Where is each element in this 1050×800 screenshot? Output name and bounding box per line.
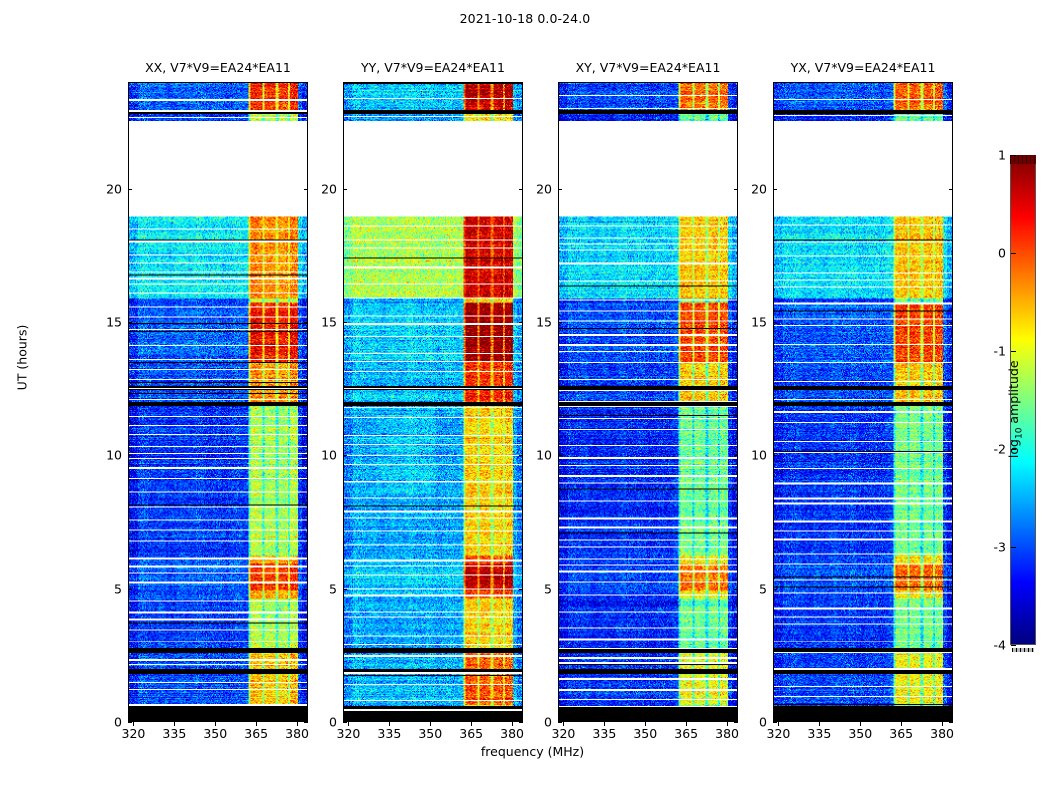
x-tick-label: 335 bbox=[807, 726, 831, 741]
y-tick-mark bbox=[304, 722, 308, 723]
colorbar-tick-label: 0 bbox=[966, 246, 1006, 261]
figure-suptitle: 2021-10-18 0.0-24.0 bbox=[0, 11, 1050, 26]
x-tick-mark bbox=[819, 722, 820, 726]
y-tick-mark bbox=[558, 722, 562, 723]
y-tick-mark bbox=[343, 189, 347, 190]
figure-canvas: 2021-10-18 0.0-24.0 XX, V7*V9=EA24*EA11 … bbox=[0, 0, 1050, 800]
x-tick-mark bbox=[512, 722, 513, 726]
x-tick-label: 380 bbox=[930, 726, 954, 741]
panel-title-yy: YY, V7*V9=EA24*EA11 bbox=[343, 60, 523, 76]
panel-title-xx: XX, V7*V9=EA24*EA11 bbox=[128, 60, 308, 76]
y-tick-mark bbox=[304, 322, 308, 323]
x-axis-label: frequency (MHz) bbox=[115, 744, 950, 759]
y-tick-mark bbox=[128, 722, 132, 723]
waterfall-panel-xx[interactable] bbox=[128, 82, 308, 722]
y-tick-label: 5 bbox=[743, 581, 767, 596]
y-tick-mark bbox=[343, 722, 347, 723]
x-tick-mark bbox=[471, 722, 472, 726]
y-axis-label: UT (hours) bbox=[15, 298, 30, 418]
x-tick-mark bbox=[901, 722, 902, 726]
colorbar-label-main: log bbox=[1006, 439, 1021, 458]
x-tick-mark bbox=[604, 722, 605, 726]
x-tick-label: 320 bbox=[337, 726, 361, 741]
x-tick-mark bbox=[778, 722, 779, 726]
x-tick-mark bbox=[686, 722, 687, 726]
waterfall-panel-xy[interactable] bbox=[558, 82, 738, 722]
waterfall-panel-yy[interactable] bbox=[343, 82, 523, 722]
x-tick-label: 365 bbox=[244, 726, 268, 741]
x-tick-mark bbox=[860, 722, 861, 726]
y-tick-mark bbox=[128, 322, 132, 323]
y-tick-label: 5 bbox=[313, 581, 337, 596]
colorbar-tick-mark bbox=[1011, 547, 1016, 548]
y-tick-label: 20 bbox=[313, 181, 337, 196]
y-tick-mark bbox=[949, 322, 953, 323]
x-tick-label: 380 bbox=[285, 726, 309, 741]
colorbar-tick-label: 1 bbox=[966, 148, 1006, 163]
y-tick-mark bbox=[304, 455, 308, 456]
y-tick-mark bbox=[519, 722, 523, 723]
colorbar-tick-label: -4 bbox=[966, 638, 1006, 653]
y-tick-label: 20 bbox=[98, 181, 122, 196]
y-tick-mark bbox=[343, 322, 347, 323]
y-tick-mark bbox=[343, 455, 347, 456]
x-tick-mark bbox=[215, 722, 216, 726]
y-tick-label: 10 bbox=[313, 448, 337, 463]
x-tick-label: 335 bbox=[592, 726, 616, 741]
x-tick-label: 365 bbox=[674, 726, 698, 741]
x-tick-mark bbox=[297, 722, 298, 726]
y-tick-mark bbox=[734, 455, 738, 456]
x-tick-mark bbox=[645, 722, 646, 726]
x-tick-label: 380 bbox=[715, 726, 739, 741]
y-tick-mark bbox=[558, 322, 562, 323]
y-tick-mark bbox=[519, 589, 523, 590]
panel-title-xy: XY, V7*V9=EA24*EA11 bbox=[558, 60, 738, 76]
x-tick-label: 365 bbox=[459, 726, 483, 741]
y-tick-mark bbox=[773, 722, 777, 723]
y-tick-mark bbox=[519, 455, 523, 456]
colorbar-tick-mark bbox=[1011, 645, 1016, 646]
x-tick-mark bbox=[174, 722, 175, 726]
y-tick-mark bbox=[734, 722, 738, 723]
x-tick-label: 320 bbox=[767, 726, 791, 741]
y-tick-label: 0 bbox=[528, 715, 552, 730]
y-tick-label: 20 bbox=[528, 181, 552, 196]
y-tick-label: 15 bbox=[528, 315, 552, 330]
colorbar-under-marker bbox=[1012, 648, 1034, 652]
colorbar-label: log10 amplitude bbox=[1006, 329, 1025, 489]
y-tick-mark bbox=[773, 589, 777, 590]
y-tick-mark bbox=[343, 589, 347, 590]
colorbar-tick-mark bbox=[1011, 155, 1016, 156]
x-tick-label: 380 bbox=[500, 726, 524, 741]
y-tick-mark bbox=[734, 189, 738, 190]
colorbar-label-tail: amplitude bbox=[1006, 360, 1021, 427]
x-tick-mark bbox=[563, 722, 564, 726]
y-tick-label: 15 bbox=[98, 315, 122, 330]
y-tick-label: 10 bbox=[743, 448, 767, 463]
y-tick-mark bbox=[734, 322, 738, 323]
y-tick-label: 0 bbox=[313, 715, 337, 730]
x-tick-label: 365 bbox=[889, 726, 913, 741]
colorbar-label-sub: 10 bbox=[1014, 428, 1024, 439]
y-tick-label: 0 bbox=[98, 715, 122, 730]
colorbar-tick-mark bbox=[1011, 253, 1016, 254]
x-tick-mark bbox=[389, 722, 390, 726]
y-tick-label: 10 bbox=[528, 448, 552, 463]
y-tick-mark bbox=[734, 589, 738, 590]
y-tick-mark bbox=[128, 589, 132, 590]
x-tick-label: 350 bbox=[203, 726, 227, 741]
y-tick-mark bbox=[558, 455, 562, 456]
y-tick-mark bbox=[949, 455, 953, 456]
colorbar-tick-label: -1 bbox=[966, 344, 1006, 359]
y-tick-label: 15 bbox=[743, 315, 767, 330]
x-tick-mark bbox=[256, 722, 257, 726]
x-tick-mark bbox=[348, 722, 349, 726]
x-tick-label: 320 bbox=[552, 726, 576, 741]
y-tick-mark bbox=[519, 189, 523, 190]
y-tick-mark bbox=[128, 455, 132, 456]
y-tick-label: 5 bbox=[528, 581, 552, 596]
x-tick-label: 350 bbox=[418, 726, 442, 741]
y-tick-label: 0 bbox=[743, 715, 767, 730]
y-tick-mark bbox=[304, 189, 308, 190]
colorbar-tick-label: -2 bbox=[966, 442, 1006, 457]
y-tick-mark bbox=[773, 455, 777, 456]
y-tick-mark bbox=[558, 189, 562, 190]
x-tick-label: 335 bbox=[162, 726, 186, 741]
y-tick-mark bbox=[949, 189, 953, 190]
waterfall-panel-yx[interactable] bbox=[773, 82, 953, 722]
y-tick-mark bbox=[949, 589, 953, 590]
y-tick-mark bbox=[773, 322, 777, 323]
x-tick-mark bbox=[727, 722, 728, 726]
y-tick-mark bbox=[128, 189, 132, 190]
x-tick-label: 335 bbox=[377, 726, 401, 741]
y-tick-mark bbox=[773, 189, 777, 190]
x-tick-mark bbox=[430, 722, 431, 726]
y-tick-mark bbox=[519, 322, 523, 323]
y-tick-label: 10 bbox=[98, 448, 122, 463]
y-tick-mark bbox=[949, 722, 953, 723]
x-tick-label: 350 bbox=[848, 726, 872, 741]
y-tick-label: 5 bbox=[98, 581, 122, 596]
y-tick-label: 15 bbox=[313, 315, 337, 330]
y-tick-mark bbox=[304, 589, 308, 590]
colorbar-tick-label: -3 bbox=[966, 540, 1006, 555]
y-tick-label: 20 bbox=[743, 181, 767, 196]
x-tick-label: 320 bbox=[122, 726, 146, 741]
panel-title-yx: YX, V7*V9=EA24*EA11 bbox=[773, 60, 953, 76]
colorbar-over-marker bbox=[1010, 155, 1036, 164]
y-tick-mark bbox=[558, 589, 562, 590]
x-tick-mark bbox=[942, 722, 943, 726]
x-tick-mark bbox=[133, 722, 134, 726]
x-tick-label: 350 bbox=[633, 726, 657, 741]
